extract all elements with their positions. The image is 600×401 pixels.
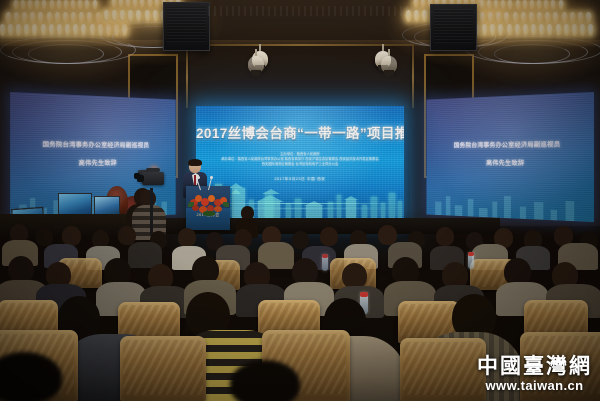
preview-monitor-2 <box>94 196 120 216</box>
ceiling-speaker-left <box>163 2 210 51</box>
audience-head <box>178 228 196 247</box>
audience-head <box>292 258 318 285</box>
chair-back-foreground <box>400 338 486 401</box>
watermark-site-name: 中國臺灣網 <box>477 355 592 378</box>
monitor-2-image <box>95 197 119 215</box>
audience-head <box>8 256 34 283</box>
ceiling-speaker-right <box>430 4 477 51</box>
podium-flower-arrangement <box>188 192 230 216</box>
camera-tripod <box>150 188 153 236</box>
spotlight-arm-4 <box>388 49 390 56</box>
bottle-cap <box>360 292 368 297</box>
microphone-head-right <box>210 176 213 179</box>
audience-head <box>36 228 53 246</box>
spotlight-4 <box>381 56 397 73</box>
video-camera-2-lens <box>137 175 144 182</box>
spotlight-arm-3 <box>255 49 257 56</box>
audience-head <box>320 227 338 246</box>
speaker-grill-right <box>434 9 474 43</box>
audience-head <box>62 226 81 246</box>
photograph-canvas: 国务院台湾事务办公室经济局副巡视员 高伟先生致辞 国务院台湾事务办公室经济局副巡… <box>0 0 600 401</box>
chandelier-far-right <box>458 0 600 70</box>
banner-subtitle-line-3: 西安国际港务区管委会 台湾区电机电子工业同业公会 <box>196 162 404 167</box>
water-bottle <box>468 252 474 269</box>
speaker-grill-left <box>167 7 207 43</box>
side-screen-right: 国务院台湾事务办公室经济局副巡视员 高伟先生致辞 <box>426 92 594 222</box>
chair-back-foreground <box>120 336 206 401</box>
spotlight-arm-1 <box>259 44 261 51</box>
bottle-cap <box>468 252 474 256</box>
video-camera-2 <box>142 172 164 185</box>
spotlight-3 <box>248 56 264 73</box>
banner-subtitle-line-2: 承办单位：陕西省人民政府台湾事务办公室 陕西省商务厅 西安浐灞生态区管委会 西安… <box>196 157 404 162</box>
water-bottle <box>322 254 328 271</box>
watermark-url: www.taiwan.cn <box>477 378 592 393</box>
microphone-head-left <box>197 176 200 179</box>
ceiling-cable-run <box>208 6 430 16</box>
watermark: 中國臺灣網 www.taiwan.cn <box>477 355 592 393</box>
side-screen-right-line1: 国务院台湾事务办公室经济局副巡视员 <box>426 139 594 150</box>
camera-2-top-handle <box>146 168 160 172</box>
banner-title: 2017丝博会台商“一带一路”项目推介会 <box>196 122 404 142</box>
audience-head <box>292 231 309 249</box>
wall-trim-horizontal <box>186 44 414 46</box>
speaker-hair <box>188 159 202 166</box>
side-screen-left-line1: 国务院台湾事务办公室经济局副巡视员 <box>10 139 176 150</box>
audience-head-closest <box>230 360 300 401</box>
bottle-cap <box>322 254 328 258</box>
audience-head <box>436 227 454 246</box>
side-screen-right-line2: 高伟先生致辞 <box>426 158 594 168</box>
banner-subtitle-line-1: 主办单位：陕西省人民政府 <box>196 152 404 157</box>
spotlight-arm-2 <box>382 44 384 51</box>
side-screen-left-line2: 高伟先生致辞 <box>10 158 176 168</box>
audience-head <box>118 226 136 245</box>
